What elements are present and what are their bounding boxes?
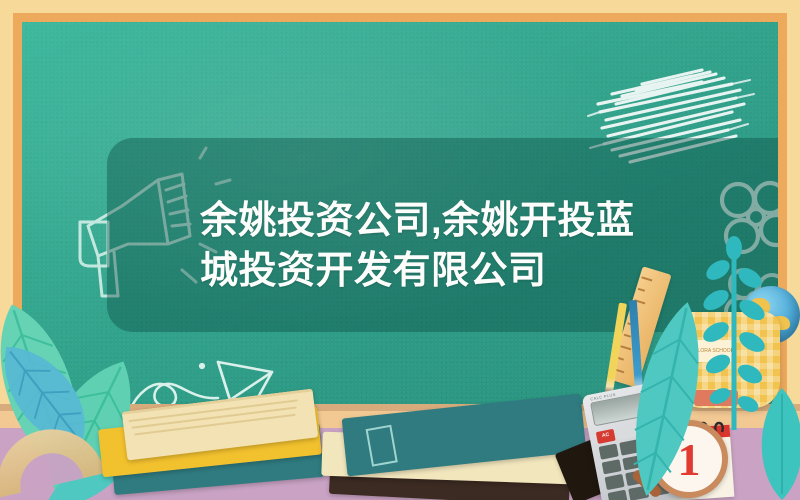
page-title: 余姚投资公司,余姚开投蓝城投资开发有限公司 [200,196,670,296]
leaf-icon [624,294,710,500]
leaf-icon [752,384,800,500]
calculator-key[interactable] [602,459,622,475]
calculator-key[interactable] [605,474,625,490]
banner-image: 余姚投资公司,余姚开投蓝城投资开发有限公司 [0,0,800,500]
calculator-key-ac[interactable]: AC [596,429,616,445]
calculator-key[interactable] [599,444,619,460]
